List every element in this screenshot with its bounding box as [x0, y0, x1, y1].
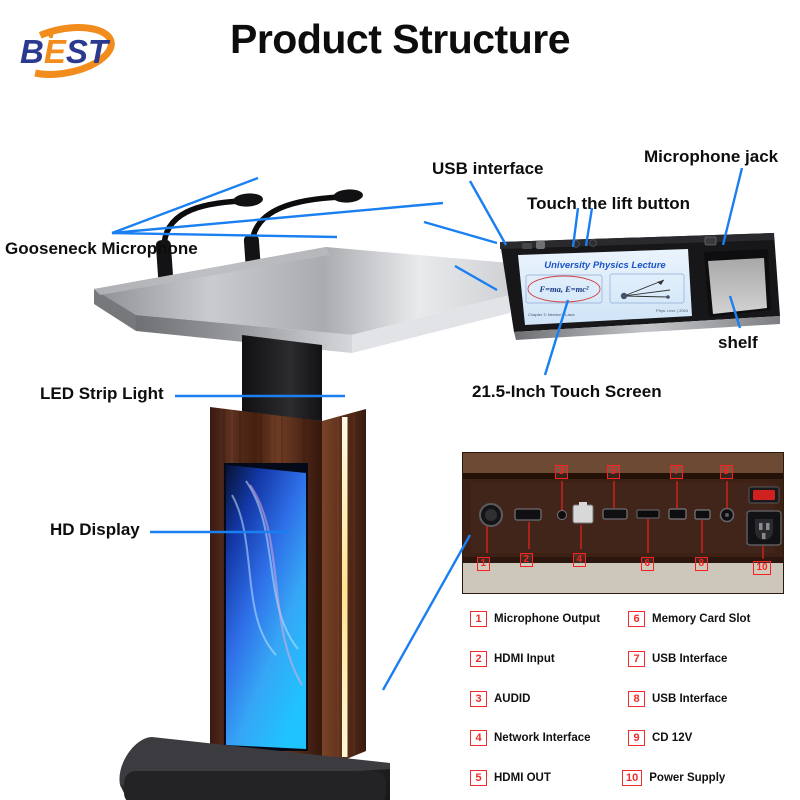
screen-footer-left: Chapter 3: Newton's Laws	[528, 312, 575, 317]
legend-item-9: 9 CD 12V	[628, 730, 692, 746]
legend-number: 6	[628, 611, 645, 627]
legend-number: 9	[628, 730, 645, 746]
legend-item-10: 10 Power Supply	[622, 770, 725, 786]
callout-microphone-jack: Microphone jack	[644, 148, 778, 166]
control-panel-photo: University Physics Lecture F=ma, E=mc² C…	[492, 228, 782, 338]
page-title: Product Structure	[0, 16, 800, 63]
legend-item-2: 2 HDMI Input	[470, 651, 555, 667]
port-marker-5: 5	[607, 465, 620, 479]
callout-gooseneck-microphone: Gooseneck Microphone	[5, 240, 198, 258]
legend-label: Memory Card Slot	[652, 613, 750, 625]
legend-number: 7	[628, 651, 645, 667]
port-marker-9: 9	[720, 465, 733, 479]
legend-item-7: 7 USB Interface	[628, 651, 727, 667]
callout-led-strip-light: LED Strip Light	[40, 385, 164, 403]
legend-label: USB Interface	[652, 653, 727, 665]
screen-formula: F=ma, E=mc²	[538, 284, 589, 294]
usb-port	[522, 243, 532, 249]
port-marker-4: 4	[573, 553, 586, 567]
legend-label: USB Interface	[652, 693, 727, 705]
legend-label: Network Interface	[494, 732, 591, 744]
legend-item-5: 5 HDMI OUT	[470, 770, 551, 786]
legend-number: 1	[470, 611, 487, 627]
legend-label: HDMI OUT	[494, 772, 551, 784]
legend-item-4: 4 Network Interface	[470, 730, 591, 746]
port-marker-8: 8	[695, 557, 708, 571]
legend-number: 3	[470, 691, 487, 707]
callout-shelf: shelf	[718, 334, 758, 352]
legend-number: 5	[470, 770, 487, 786]
port-marker-1: 1	[477, 557, 490, 571]
legend-item-3: 3 AUDID	[470, 691, 530, 707]
port-marker-3: 3	[555, 465, 568, 479]
legend-number: 4	[470, 730, 487, 746]
legend-item-8: 8 USB Interface	[628, 691, 727, 707]
callout-usb-interface: USB interface	[432, 160, 543, 178]
port-marker-2: 2	[520, 553, 533, 567]
lift-button-up	[573, 241, 580, 248]
legend-number: 2	[470, 651, 487, 667]
screen-title: University Physics Lecture	[544, 260, 666, 271]
port-marker-6: 6	[641, 557, 654, 571]
legend-item-1: 1 Microphone Output	[470, 611, 600, 627]
legend-label: Microphone Output	[494, 613, 600, 625]
legend-label: CD 12V	[652, 732, 692, 744]
ports-panel-photo: 1 2 3 4 5 6 7 8 9 10	[462, 452, 784, 594]
screen-footer-right: Phys. Lect. | 2024	[656, 308, 689, 313]
legend-item-6: 6 Memory Card Slot	[628, 611, 750, 627]
legend-label: Power Supply	[649, 772, 725, 784]
legend-number: 10	[622, 770, 642, 786]
lectern-illustration	[90, 185, 510, 785]
legend-label: AUDID	[494, 693, 530, 705]
lift-button-down	[590, 240, 597, 247]
callout-hd-display: HD Display	[50, 521, 140, 539]
port-marker-10: 10	[753, 561, 771, 575]
callout-touch-lift-button: Touch the lift button	[527, 195, 690, 213]
microphone-jack-port	[705, 237, 716, 245]
legend-label: HDMI Input	[494, 653, 555, 665]
legend-number: 8	[628, 691, 645, 707]
port-marker-7: 7	[670, 465, 683, 479]
callout-touch-screen: 21.5-Inch Touch Screen	[472, 383, 662, 401]
port-legend: 1 Microphone Output 2 HDMI Input 3 AUDID…	[470, 605, 792, 793]
